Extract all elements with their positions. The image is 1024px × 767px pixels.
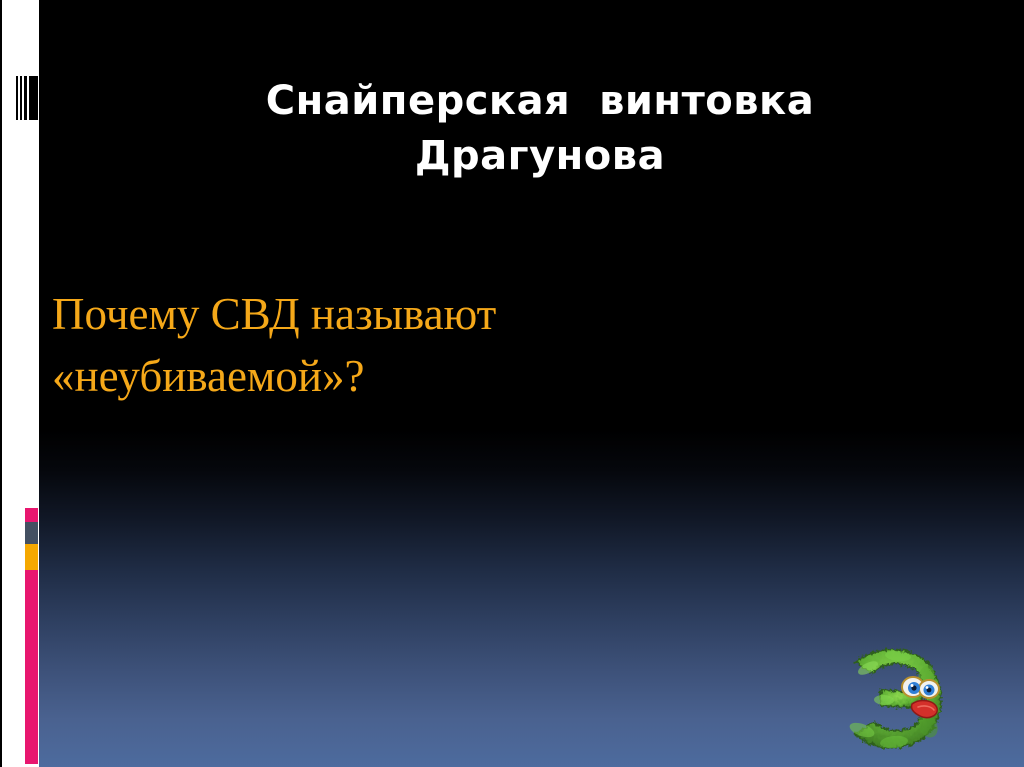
left-edge-rule xyxy=(0,0,2,767)
barcode-stripes-icon xyxy=(16,76,42,120)
barcode-stripe xyxy=(29,76,38,120)
slide-title-line-2: Драгунова xyxy=(140,129,940,184)
color-block-stack-icon xyxy=(25,508,38,764)
slide-body-line-2: «неубиваемой»? xyxy=(52,345,812,407)
accent-block-pink xyxy=(25,508,38,522)
accent-block-slate xyxy=(25,522,38,544)
leafy-letter-e-icon xyxy=(828,638,958,758)
slide-body-text: Почему СВД называют «неубиваемой»? xyxy=(52,283,812,407)
cartoon-face xyxy=(902,677,939,698)
slide-title-line-1: Снайперская винтовка xyxy=(140,74,940,129)
accent-bar-pink xyxy=(25,570,38,764)
presentation-slide: Снайперская винтовка Драгунова Почему СВ… xyxy=(0,0,1024,767)
accent-block-amber xyxy=(25,544,38,570)
slide-body-line-1: Почему СВД называют xyxy=(52,283,812,345)
slide-title: Снайперская винтовка Драгунова xyxy=(140,74,940,184)
